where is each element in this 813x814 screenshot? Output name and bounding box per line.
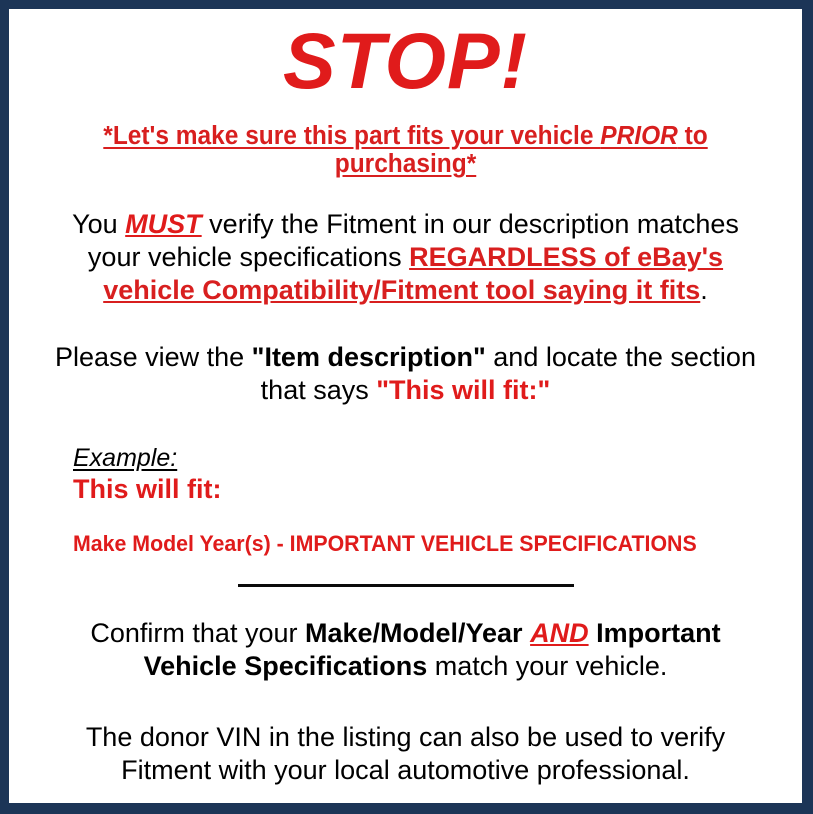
example-label: Example: — [73, 443, 177, 473]
example-block: Example: This will fit: Make Model Year(… — [23, 443, 788, 557]
example-fit-heading: This will fit: — [73, 474, 788, 505]
must-seg-1: You — [72, 209, 125, 239]
confirm-seg-4: match your vehicle. — [427, 651, 667, 681]
subtitle-prefix: *Let's make sure this part fits your veh… — [103, 122, 600, 150]
must-seg-3: . — [700, 275, 708, 305]
paragraph-must-verify: You MUST verify the Fitment in our descr… — [23, 208, 788, 307]
subtitle-emphasis-prior: PRIOR — [600, 122, 678, 150]
make-model-year-emphasis: Make/Model/Year — [305, 618, 523, 648]
this-will-fit-emphasis: "This will fit:" — [376, 375, 550, 405]
confirm-seg-1: Confirm that your — [90, 618, 305, 648]
must-emphasis: MUST — [125, 209, 202, 239]
section-divider — [238, 584, 574, 587]
item-description-emphasis: "Item description" — [252, 342, 486, 372]
paragraph-item-description: Please view the "Item description" and l… — [23, 341, 788, 407]
confirm-seg-2 — [523, 618, 531, 648]
notice-content-area: STOP! *Let's make sure this part fits yo… — [9, 9, 802, 803]
paragraph-donor-vin: The donor VIN in the listing can also be… — [23, 721, 788, 787]
paragraph-confirm: Confirm that your Make/Model/Year AND Im… — [23, 617, 788, 683]
example-spec-line: Make Model Year(s) - IMPORTANT VEHICLE S… — [73, 531, 767, 557]
and-emphasis: AND — [530, 618, 589, 648]
fitment-notice-card: STOP! *Let's make sure this part fits yo… — [0, 0, 813, 814]
desc-seg-1: Please view the — [55, 342, 252, 372]
page-title: STOP! — [23, 21, 788, 100]
subtitle-banner: *Let's make sure this part fits your veh… — [38, 122, 772, 178]
confirm-seg-3 — [589, 618, 597, 648]
